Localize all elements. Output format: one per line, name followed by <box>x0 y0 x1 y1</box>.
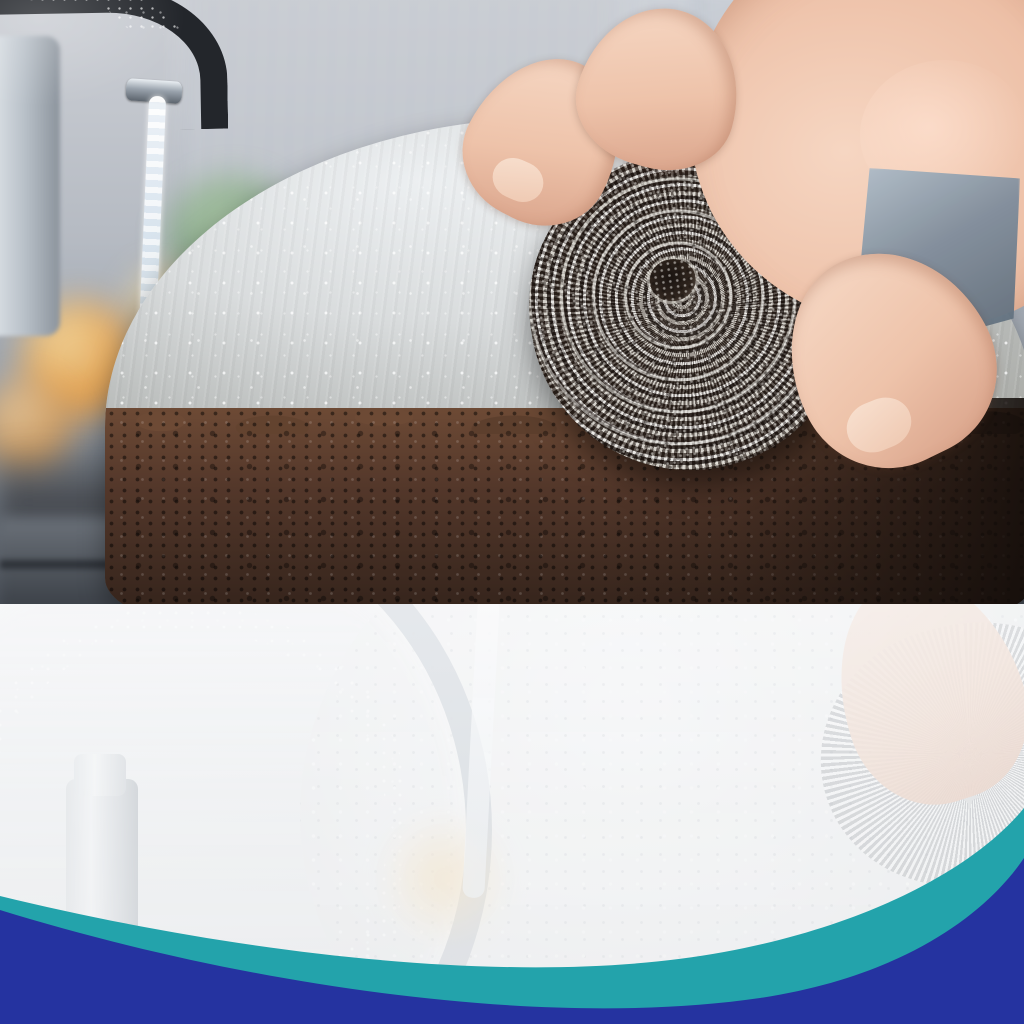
top-product-photo <box>0 0 1024 604</box>
product-image-canvas: Effortlessly clean tough dirt,grease ,oi… <box>0 0 1024 1024</box>
bottom-text-panel: Effortlessly clean tough dirt,grease ,oi… <box>0 604 1024 1024</box>
decorative-wave-graphic <box>0 784 1024 1024</box>
faucet-spout <box>0 0 228 133</box>
